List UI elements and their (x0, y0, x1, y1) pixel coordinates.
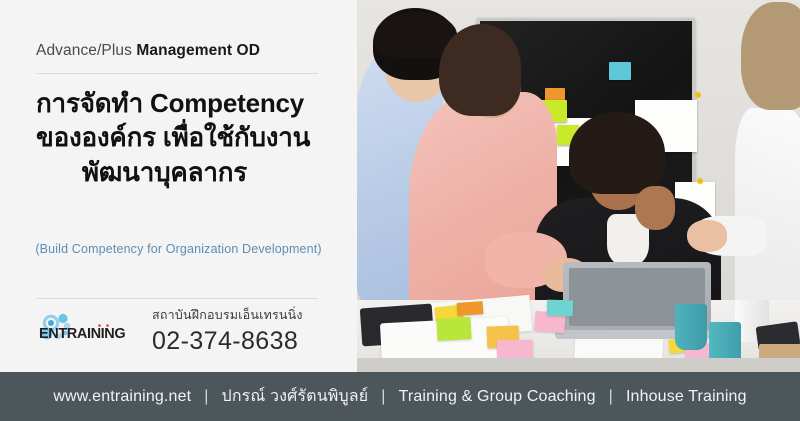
photo-teal-cup (675, 304, 707, 350)
footer-separator: | (193, 388, 219, 406)
footer-bar: www.entraining.net | ปกรณ์ วงศ์รัตนพิบูล… (0, 372, 800, 421)
photo-desk-sticky-note (436, 317, 471, 341)
course-category-kicker: Advance/Plus Management OD (36, 42, 260, 60)
course-promo-banner: Advance/Plus Management OD การจัดทำ Comp… (0, 0, 800, 421)
phone-number[interactable]: 02-374-8638 (152, 327, 352, 356)
divider-bottom (36, 298, 318, 299)
left-text-panel: Advance/Plus Management OD การจัดทำ Comp… (0, 0, 357, 372)
institute-name: สถาบันฝึกอบรมเอ็นเทรนนิ่ง (152, 308, 352, 323)
kicker-prefix: Advance/Plus (36, 42, 132, 59)
team-meeting-photo (357, 0, 800, 372)
photo-person-right-hair (741, 2, 800, 110)
footer-separator: | (370, 388, 396, 406)
footer-service-inhouse-training[interactable]: Inhouse Training (624, 388, 749, 406)
photo-pushpin (697, 178, 703, 184)
svg-text:ENTRAINING: ENTRAINING (39, 326, 125, 342)
footer-website-link[interactable]: www.entraining.net (51, 388, 193, 406)
headline-line-1: การจัดทำ Competency (0, 86, 357, 120)
footer-trainer-name: ปกรณ์ วงศ์รัตนพิบูลย์ (220, 384, 371, 409)
course-subtitle-english: (Build Competency for Organization Devel… (0, 242, 357, 256)
footer-links: www.entraining.net | ปกรณ์ วงศ์รัตนพิบูล… (51, 384, 748, 409)
headline-line-2: ขององค์กร เพื่อใช้กับงาน (0, 120, 357, 154)
divider-top (36, 73, 318, 74)
entraining-logo[interactable]: ENTRAINING (36, 312, 132, 346)
course-headline: การจัดทำ Competency ขององค์กร เพื่อใช้กั… (0, 86, 357, 189)
headline-line-3: พัฒนาบุคลากร (0, 155, 357, 189)
contact-row: ENTRAINING สถาบันฝึกอบรมเอ็นเทรนนิ่ง 02-… (36, 308, 336, 364)
footer-service-training-coaching[interactable]: Training & Group Coaching (397, 388, 598, 406)
contact-text-block: สถาบันฝึกอบรมเอ็นเทรนนิ่ง 02-374-8638 (152, 308, 352, 356)
kicker-bold: Management OD (136, 42, 260, 59)
photo-sticky-note (609, 62, 631, 80)
photo-person-right-hand (687, 220, 727, 252)
photo-person-pink-hair (439, 24, 521, 116)
photo-person-center-hair (569, 112, 665, 194)
logo-wordmark: ENTRAINING (39, 324, 125, 342)
footer-separator: | (598, 388, 624, 406)
photo-person-center-hand (635, 186, 675, 230)
photo-desk-sticky-note (547, 300, 574, 317)
photo-desk-sticky-note (457, 301, 484, 316)
photo-desk-edge (357, 358, 800, 372)
photo-pushpin (695, 92, 701, 98)
